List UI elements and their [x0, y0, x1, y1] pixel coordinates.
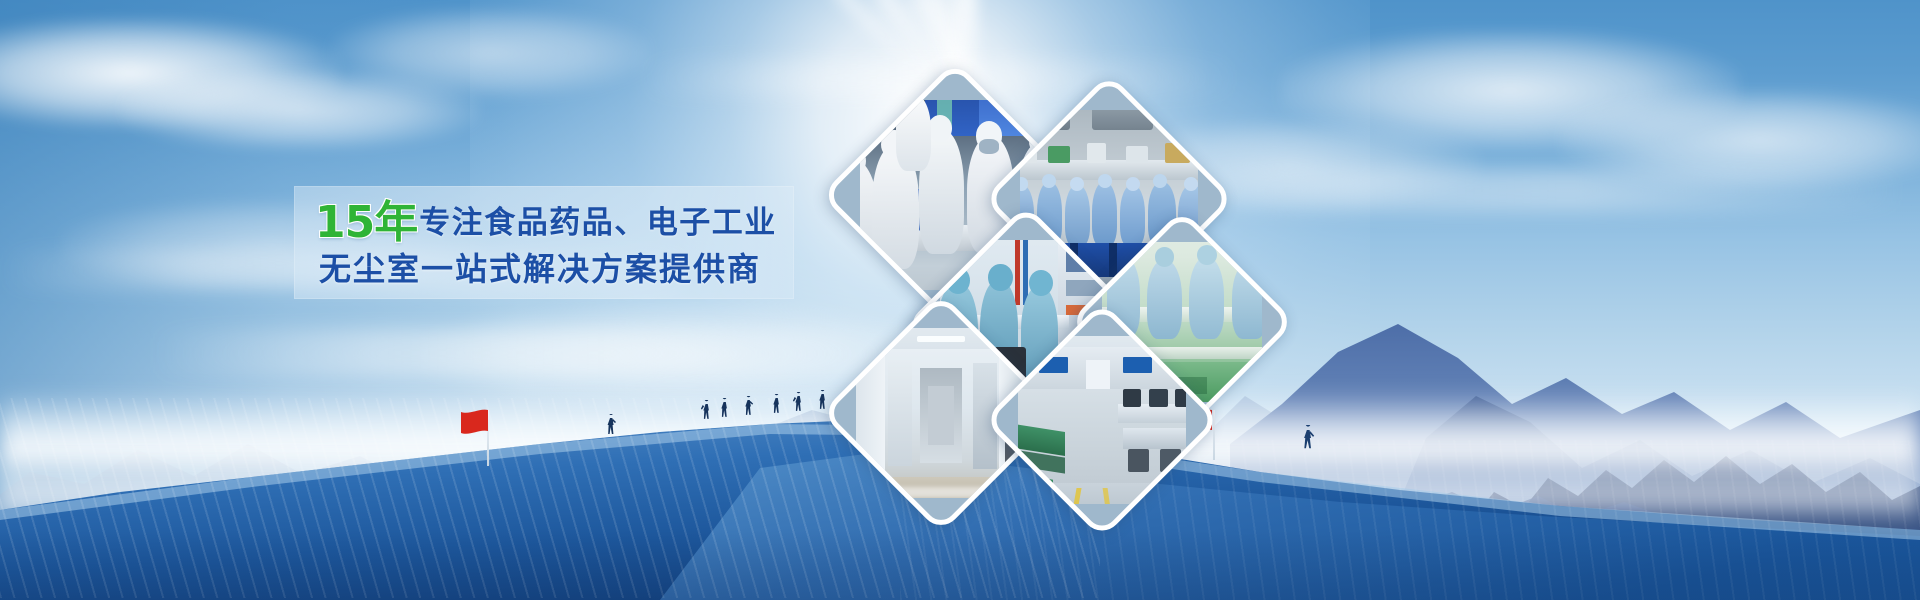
hiker-silhouette — [742, 396, 755, 417]
cloud — [0, 18, 340, 128]
bottom-vignette — [0, 530, 1920, 600]
cloud — [1560, 90, 1920, 190]
hiker-silhouette — [816, 390, 829, 411]
hiker-silhouette — [700, 400, 713, 421]
headline-line-1-text: 专注食品药品、电子工业 — [419, 200, 777, 246]
cloud — [120, 70, 480, 150]
headline-line-2-text: 无尘室一站式解决方案提供商 — [319, 246, 761, 292]
photo-conveyor-workshop-overview — [1018, 336, 1186, 504]
photo-frame — [1018, 336, 1186, 504]
photo-collage — [830, 80, 1290, 480]
headline-line-2: 无尘室一站式解决方案提供商 — [315, 246, 785, 292]
hiker-silhouette — [1300, 425, 1316, 451]
years-badge: 15年 — [315, 200, 417, 246]
hiker-silhouette — [792, 392, 805, 413]
mountain-range-main — [1230, 318, 1920, 548]
cloud — [330, 8, 650, 98]
headline-line-1: 15年 专注食品药品、电子工业 — [315, 200, 785, 246]
sky-left-tint — [0, 0, 520, 600]
hiker-silhouette — [604, 414, 618, 436]
flag-pole — [487, 410, 489, 466]
hiker-silhouette — [770, 394, 783, 415]
mountain-ridge-dark-right — [1420, 430, 1920, 550]
hiker-silhouette — [718, 398, 731, 419]
hero-banner: 15年 专注食品药品、电子工业 无尘室一站式解决方案提供商 — [0, 0, 1920, 600]
red-flag-left — [452, 408, 492, 438]
mountain-range-left-faint — [0, 360, 600, 510]
cloud — [1280, 30, 1740, 150]
headline-block: 15年 专注食品药品、电子工业 无尘室一站式解决方案提供商 — [315, 200, 785, 292]
